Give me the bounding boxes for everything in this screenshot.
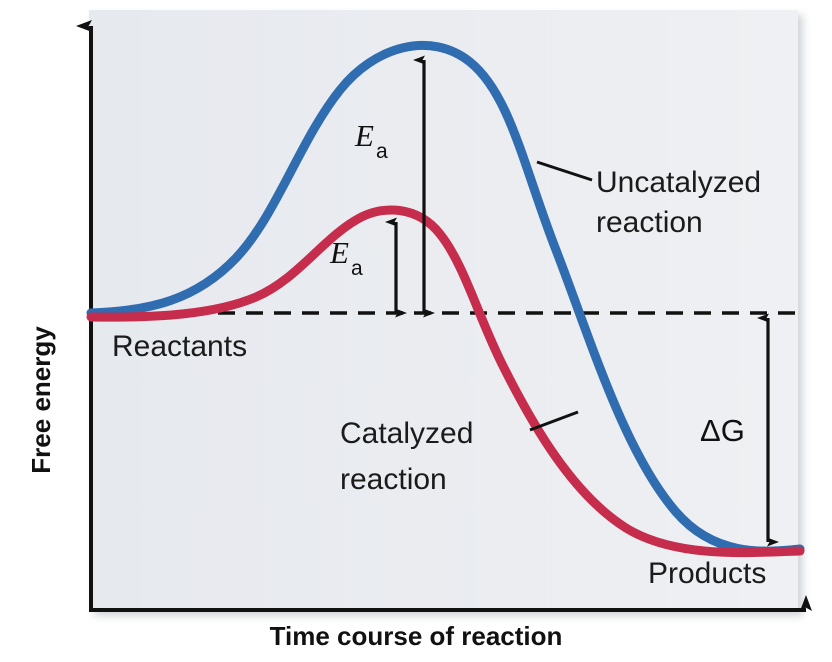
ea-uncatalyzed-subscript: a <box>376 140 388 163</box>
ea-catalyzed-symbol: E <box>329 235 349 270</box>
x-axis-title: Time course of reaction <box>270 621 563 651</box>
delta-g-label: ΔG <box>700 413 745 448</box>
catalyzed-label-line2: reaction <box>340 463 447 496</box>
energy-diagram-figure: E a E a ΔG Reactants Products Uncatalyze… <box>0 0 832 662</box>
uncatalyzed-label-line1: Uncatalyzed <box>596 166 761 199</box>
uncatalyzed-label-line2: reaction <box>596 206 703 239</box>
y-axis-title: Free energy <box>26 326 56 474</box>
ea-uncatalyzed-symbol: E <box>354 118 374 153</box>
reactants-label: Reactants <box>112 330 247 363</box>
ea-catalyzed-subscript: a <box>351 257 363 280</box>
catalyzed-label-line1: Catalyzed <box>340 417 473 450</box>
products-label: Products <box>648 557 766 590</box>
